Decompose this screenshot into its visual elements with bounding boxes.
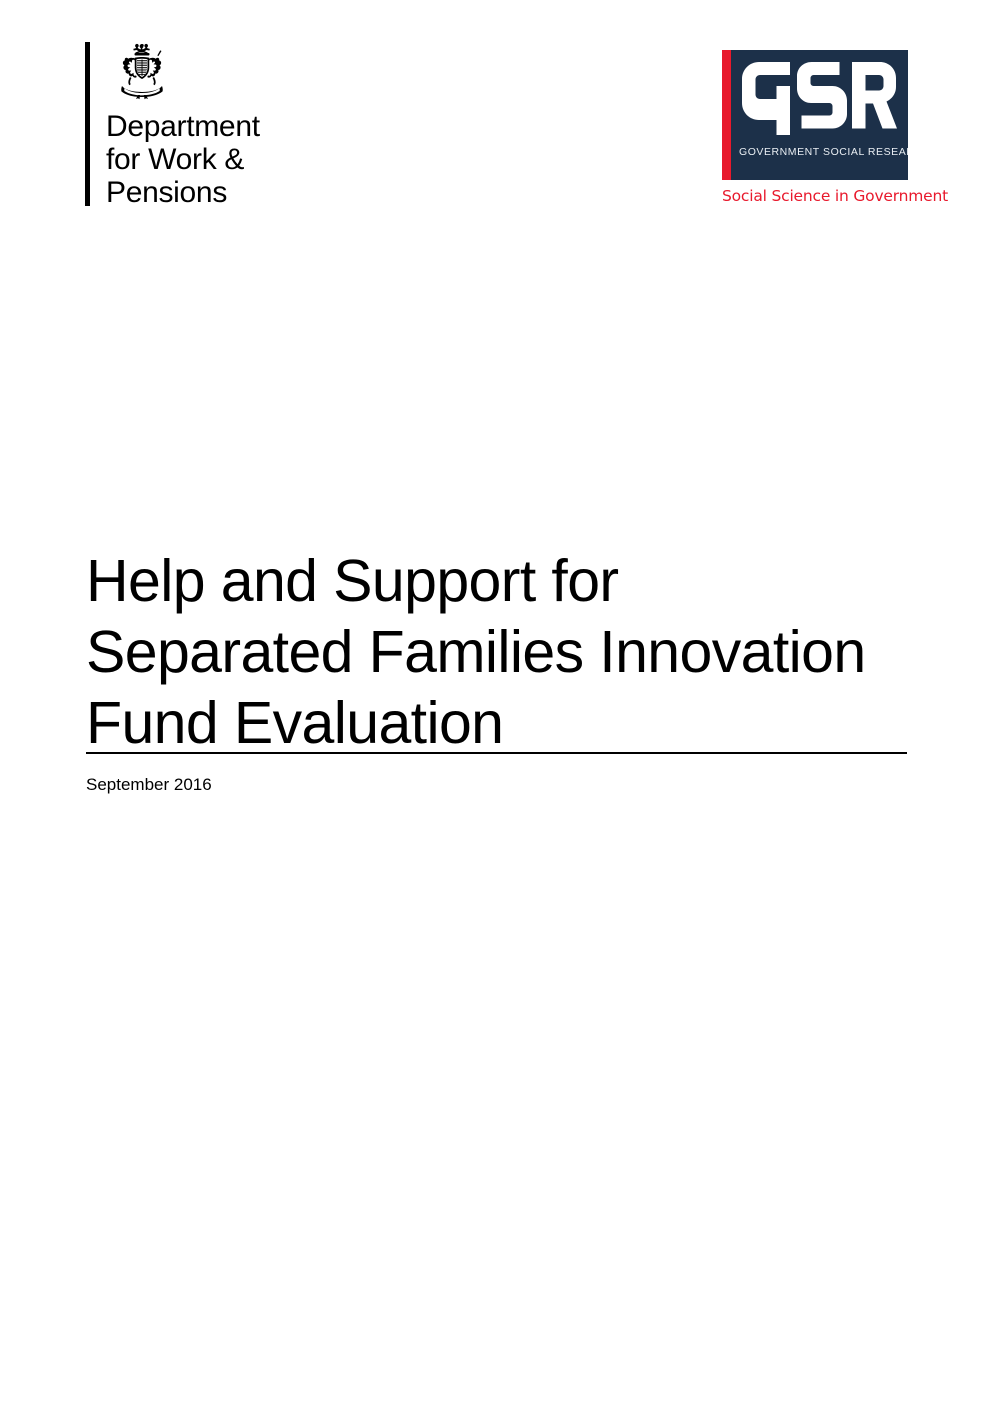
gsr-tagline: Social Science in Government xyxy=(722,187,922,206)
gsr-logo: GOVERNMENT SOCIAL RESEARCH Social Scienc… xyxy=(722,50,908,215)
gsr-logo-box: GOVERNMENT SOCIAL RESEARCH xyxy=(722,50,908,180)
dwp-department-name: Department for Work & Pensions xyxy=(106,110,260,209)
dwp-logo: Department for Work & Pensions xyxy=(85,42,405,212)
gsr-red-accent-bar xyxy=(722,50,731,180)
gsr-monogram-icon xyxy=(738,58,900,136)
cover-page: Department for Work & Pensions GOVERNMEN… xyxy=(0,0,991,1401)
royal-coat-of-arms-icon xyxy=(108,42,176,104)
dwp-logo-body: Department for Work & Pensions xyxy=(106,42,260,209)
gsr-subtitle: GOVERNMENT SOCIAL RESEARCH xyxy=(739,146,904,158)
page-title: Help and Support for Separated Families … xyxy=(86,546,916,759)
title-divider xyxy=(86,752,907,754)
dwp-vertical-bar xyxy=(85,42,90,206)
publication-date: September 2016 xyxy=(86,774,212,796)
